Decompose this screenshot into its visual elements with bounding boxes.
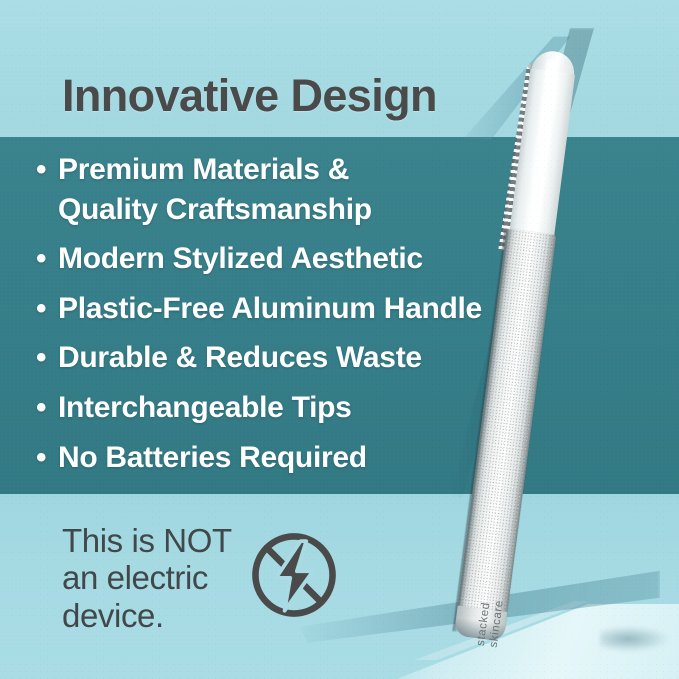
bullet-dot-icon: • bbox=[36, 289, 58, 329]
feature-list: •Premium Materials &Quality Craftsmanshi… bbox=[36, 150, 536, 487]
product-feature-graphic: stacked skincare Innovative Design •Prem… bbox=[0, 0, 679, 679]
bullet-dot-icon: • bbox=[36, 150, 58, 190]
bullet-dot-icon: • bbox=[36, 338, 58, 378]
bullet-dot-icon: • bbox=[36, 438, 58, 478]
notice-line-3: device. bbox=[62, 597, 262, 634]
notice-line-2: an electric bbox=[62, 559, 262, 596]
feature-item-label: Premium Materials &Quality Craftsmanship bbox=[58, 150, 372, 229]
feature-item-label: Plastic-Free Aluminum Handle bbox=[58, 289, 482, 329]
notice-line-1: This is NOT bbox=[62, 522, 262, 559]
feature-item: •Premium Materials &Quality Craftsmanshi… bbox=[36, 150, 536, 229]
bullet-dot-icon: • bbox=[36, 239, 58, 279]
feature-item-label: Durable & Reduces Waste bbox=[58, 338, 422, 378]
feature-item-label: Modern Stylized Aesthetic bbox=[58, 239, 423, 279]
not-electric-notice: This is NOT an electric device. bbox=[62, 522, 262, 634]
page-title: Innovative Design bbox=[62, 70, 437, 122]
feature-item: •Plastic-Free Aluminum Handle bbox=[36, 289, 536, 329]
feature-item-label: No Batteries Required bbox=[58, 438, 367, 478]
feature-item-label: Interchangeable Tips bbox=[58, 388, 352, 428]
feature-item: •Interchangeable Tips bbox=[36, 388, 536, 428]
feature-item: •Durable & Reduces Waste bbox=[36, 338, 536, 378]
bullet-dot-icon: • bbox=[36, 388, 58, 428]
feature-item: •No Batteries Required bbox=[36, 438, 536, 478]
feature-item: •Modern Stylized Aesthetic bbox=[36, 239, 536, 279]
no-electricity-icon bbox=[247, 528, 341, 622]
